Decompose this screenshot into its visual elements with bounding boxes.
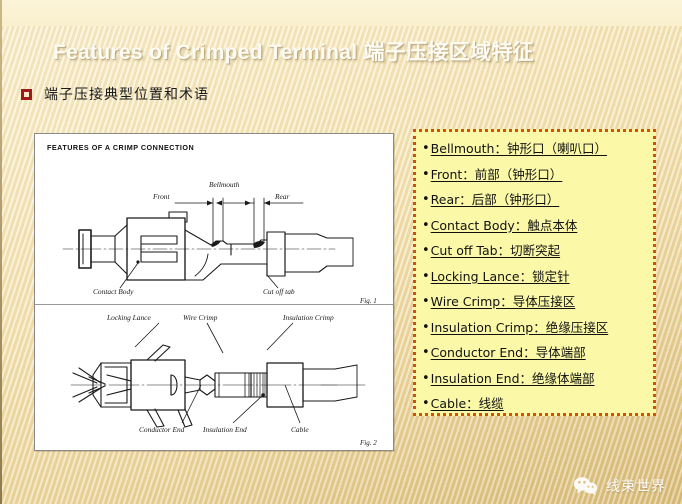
list-item: •Rear：后部（钟形口） — [420, 190, 653, 216]
list-item: •Cable：线缆 — [420, 394, 653, 420]
fig2-label-cable: Cable — [291, 425, 309, 434]
list-item: •Bellmouth：钟形口（喇叭口） — [420, 139, 653, 165]
square-outline-icon — [21, 89, 32, 100]
list-item-label: Rear：后部（钟形口） — [431, 190, 560, 209]
terminology-legend-box: •Bellmouth：钟形口（喇叭口） •Front：前部（钟形口） •Rear… — [413, 129, 656, 416]
list-item-label: Insulation End：绝缘体端部 — [431, 369, 595, 388]
subheading: 端子压接典型位置和术语 — [21, 84, 209, 104]
fig1-number: Fig. 1 — [359, 297, 377, 304]
bullet-dot-icon: • — [422, 216, 430, 235]
slide-canvas: Features of Crimped Terminal 端子压接区域特征 端子… — [0, 0, 682, 504]
list-item: •Insulation Crimp：绝缘压接区 — [420, 318, 653, 344]
fig1-label-cut-off-tab: Cut off tab — [263, 287, 295, 296]
bullet-dot-icon: • — [422, 139, 430, 158]
list-item: •Contact Body：触点本体 — [420, 216, 653, 242]
bullet-dot-icon: • — [422, 267, 430, 286]
top-band — [0, 0, 682, 26]
bullet-dot-icon: • — [422, 394, 430, 413]
watermark: 线束世界 — [573, 476, 666, 496]
list-item-label: Insulation Crimp：绝缘压接区 — [431, 318, 609, 337]
list-item-label: Locking Lance：锁定针 — [431, 267, 570, 286]
watermark-label: 线束世界 — [606, 476, 666, 496]
fig1-label-bellmouth: Bellmouth — [209, 180, 240, 189]
fig2-label-wire-crimp: Wire Crimp — [183, 313, 218, 322]
fig2-label-insulation-end: Insulation End — [202, 425, 247, 434]
list-item-label: Front：前部（钟形口） — [431, 165, 563, 184]
list-item-label: Cable：线缆 — [431, 394, 504, 413]
fig2-label-locking-lance: Locking Lance — [106, 313, 151, 322]
bullet-dot-icon: • — [422, 369, 430, 388]
list-item: •Cut off Tab：切断突起 — [420, 241, 653, 267]
list-item: •Wire Crimp：导体压接区 — [420, 292, 653, 318]
fig1-crimp-connection-diagram: Bellmouth Front Rear Contact Body Cut of… — [35, 152, 395, 304]
list-item-label: Bellmouth：钟形口（喇叭口） — [431, 139, 607, 158]
fig1-label-contact-body: Contact Body — [93, 287, 134, 296]
bullet-dot-icon: • — [422, 292, 430, 311]
fig2-crimped-terminal-diagram: Locking Lance Wire Crimp Insulation Crim… — [35, 305, 395, 450]
terminology-list: •Bellmouth：钟形口（喇叭口） •Front：前部（钟形口） •Rear… — [420, 139, 653, 420]
list-item-label: Cut off Tab：切断突起 — [431, 241, 560, 260]
list-item-label: Wire Crimp：导体压接区 — [431, 292, 576, 311]
fig2-number: Fig. 2 — [359, 439, 377, 447]
fig2-label-insulation-crimp: Insulation Crimp — [282, 313, 334, 322]
list-item: •Front：前部（钟形口） — [420, 165, 653, 191]
list-item: •Conductor End：导体端部 — [420, 343, 653, 369]
list-item-label: Conductor End：导体端部 — [431, 343, 586, 362]
wechat-icon — [573, 476, 599, 496]
figure-caption: FEATURES OF A CRIMP CONNECTION — [47, 143, 194, 152]
list-item-label: Contact Body：触点本体 — [431, 216, 578, 235]
subheading-label: 端子压接典型位置和术语 — [44, 84, 209, 104]
fig2-label-conductor-end: Conductor End — [139, 425, 185, 434]
list-item: •Insulation End：绝缘体端部 — [420, 369, 653, 395]
list-item: •Locking Lance：锁定针 — [420, 267, 653, 293]
bullet-dot-icon: • — [422, 165, 430, 184]
page-title: Features of Crimped Terminal 端子压接区域特征 — [53, 36, 534, 66]
bullet-dot-icon: • — [422, 241, 430, 260]
fig1-label-rear: Rear — [274, 192, 289, 201]
bullet-dot-icon: • — [422, 190, 430, 209]
bullet-dot-icon: • — [422, 343, 430, 362]
figure-panel: FEATURES OF A CRIMP CONNECTION — [34, 133, 394, 451]
fig1-label-front: Front — [152, 192, 171, 201]
bullet-dot-icon: • — [422, 318, 430, 337]
